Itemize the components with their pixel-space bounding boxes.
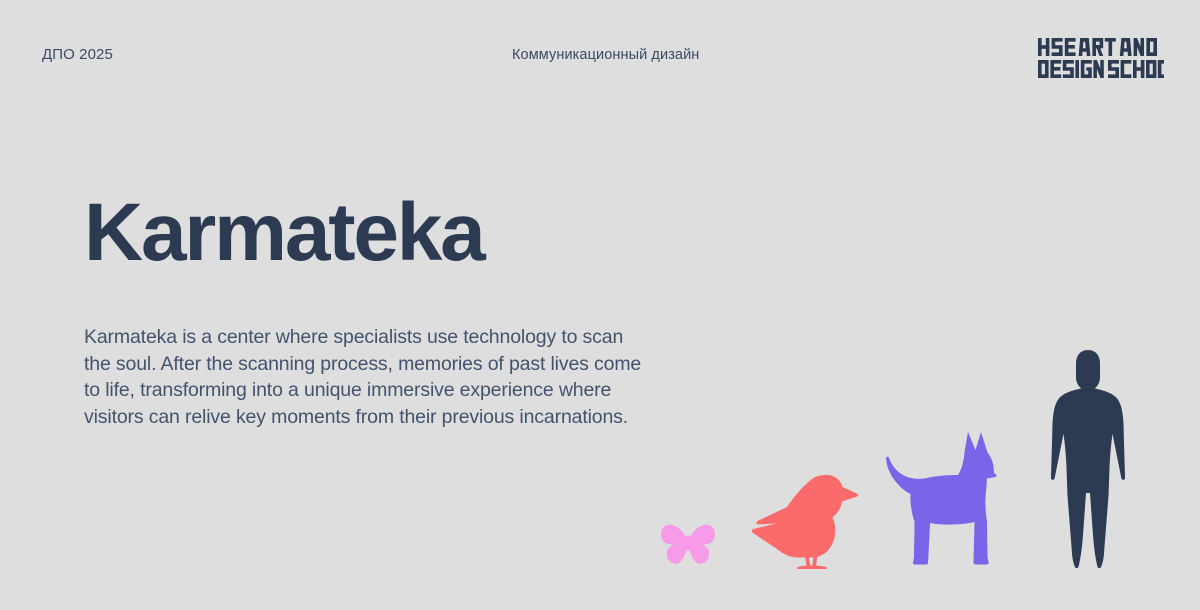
human-icon (1050, 348, 1126, 570)
silhouette-figure-group (640, 330, 1180, 570)
header-program-label: ДПО 2025 (42, 46, 113, 63)
description-line: Karmateka is a center where specialists … (84, 324, 724, 351)
description-line: visitors can relive key moments from the… (84, 404, 724, 431)
page-title: Karmateka (84, 192, 484, 274)
hse-logo (1038, 38, 1164, 80)
description-paragraph: Karmateka is a center where specialists … (84, 324, 724, 430)
description-line: to life, transforming into a unique imme… (84, 377, 724, 404)
slide-header: ДПО 2025 Коммуникационный дизайн (0, 0, 1200, 110)
butterfly-icon (660, 516, 716, 568)
bird-icon (750, 465, 860, 570)
header-course-label: Коммуникационный дизайн (512, 47, 699, 63)
slide-canvas: ДПО 2025 Коммуникационный дизайн (0, 0, 1200, 610)
dog-icon (882, 428, 997, 568)
description-line: the soul. After the scanning process, me… (84, 351, 724, 378)
